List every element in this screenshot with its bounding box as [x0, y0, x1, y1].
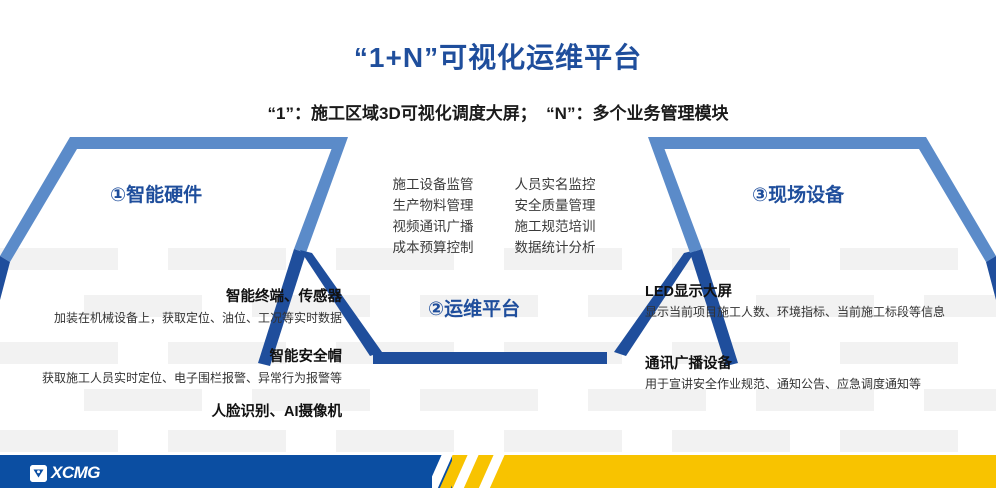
module-item: 数据统计分析 [500, 237, 610, 258]
left-item-smart-helmet: 智能安全帽 获取施工人员实时定位、电子围栏报警、异常行为报警等 [2, 345, 342, 387]
section-heading-smart-hardware: ①智能硬件 [110, 180, 202, 207]
item-description: 获取施工人员实时定位、电子围栏报警、异常行为报警等 [2, 369, 342, 387]
left-item-terminal-sensor: 智能终端、传感器 加装在机械设备上，获取定位、油位、工况等实时数据 [2, 285, 342, 327]
footer-diagonal-stripes [432, 455, 522, 488]
xcmg-wordmark: XCMG [51, 463, 100, 483]
xcmg-mark-icon [30, 465, 47, 482]
module-item: 生产物料管理 [378, 195, 488, 216]
module-column-right: 人员实名监控 安全质量管理 施工规范培训 数据统计分析 [500, 174, 610, 258]
item-description: 加装在机械设备上，获取定位、油位、工况等实时数据 [2, 309, 342, 327]
item-heading: 智能安全帽 [2, 345, 342, 366]
left-item-face-recognition-camera: 人脸识别、AI摄像机 [2, 400, 342, 421]
item-heading: 人脸识别、AI摄像机 [2, 400, 342, 421]
item-description: 用于宣讲安全作业规范、通知公告、应急调度通知等 [645, 375, 975, 393]
module-item: 施工设备监管 [378, 174, 488, 195]
item-heading: 通讯广播设备 [645, 352, 975, 373]
footer-yellow-band [452, 455, 996, 488]
item-description: 显示当前项目施工人数、环境指标、当前施工标段等信息 [645, 303, 975, 321]
right-item-broadcast-device: 通讯广播设备 用于宣讲安全作业规范、通知公告、应急调度通知等 [645, 352, 975, 393]
footer-bar [0, 455, 996, 488]
slide-canvas: “1+N”可视化运维平台 “1”：施工区域3D可视化调度大屏； “N”：多个业务… [0, 0, 996, 488]
text-layer: “1+N”可视化运维平台 “1”：施工区域3D可视化调度大屏； “N”：多个业务… [0, 0, 996, 455]
section-heading-ops-platform: ②运维平台 [428, 294, 520, 321]
page-subtitle: “1”：施工区域3D可视化调度大屏； “N”：多个业务管理模块 [198, 100, 798, 127]
item-heading: LED显示大屏 [645, 280, 975, 301]
module-item: 视频通讯广播 [378, 216, 488, 237]
module-item: 施工规范培训 [500, 216, 610, 237]
page-title: “1+N”可视化运维平台 [0, 36, 996, 76]
item-heading: 智能终端、传感器 [2, 285, 342, 306]
module-item: 人员实名监控 [500, 174, 610, 195]
section-heading-site-equipment: ③现场设备 [752, 180, 844, 207]
right-item-led-display: LED显示大屏 显示当前项目施工人数、环境指标、当前施工标段等信息 [645, 280, 975, 321]
xcmg-logo: XCMG [30, 463, 100, 483]
module-item: 成本预算控制 [378, 237, 488, 258]
module-item: 安全质量管理 [500, 195, 610, 216]
module-column-left: 施工设备监管 生产物料管理 视频通讯广播 成本预算控制 [378, 174, 488, 258]
